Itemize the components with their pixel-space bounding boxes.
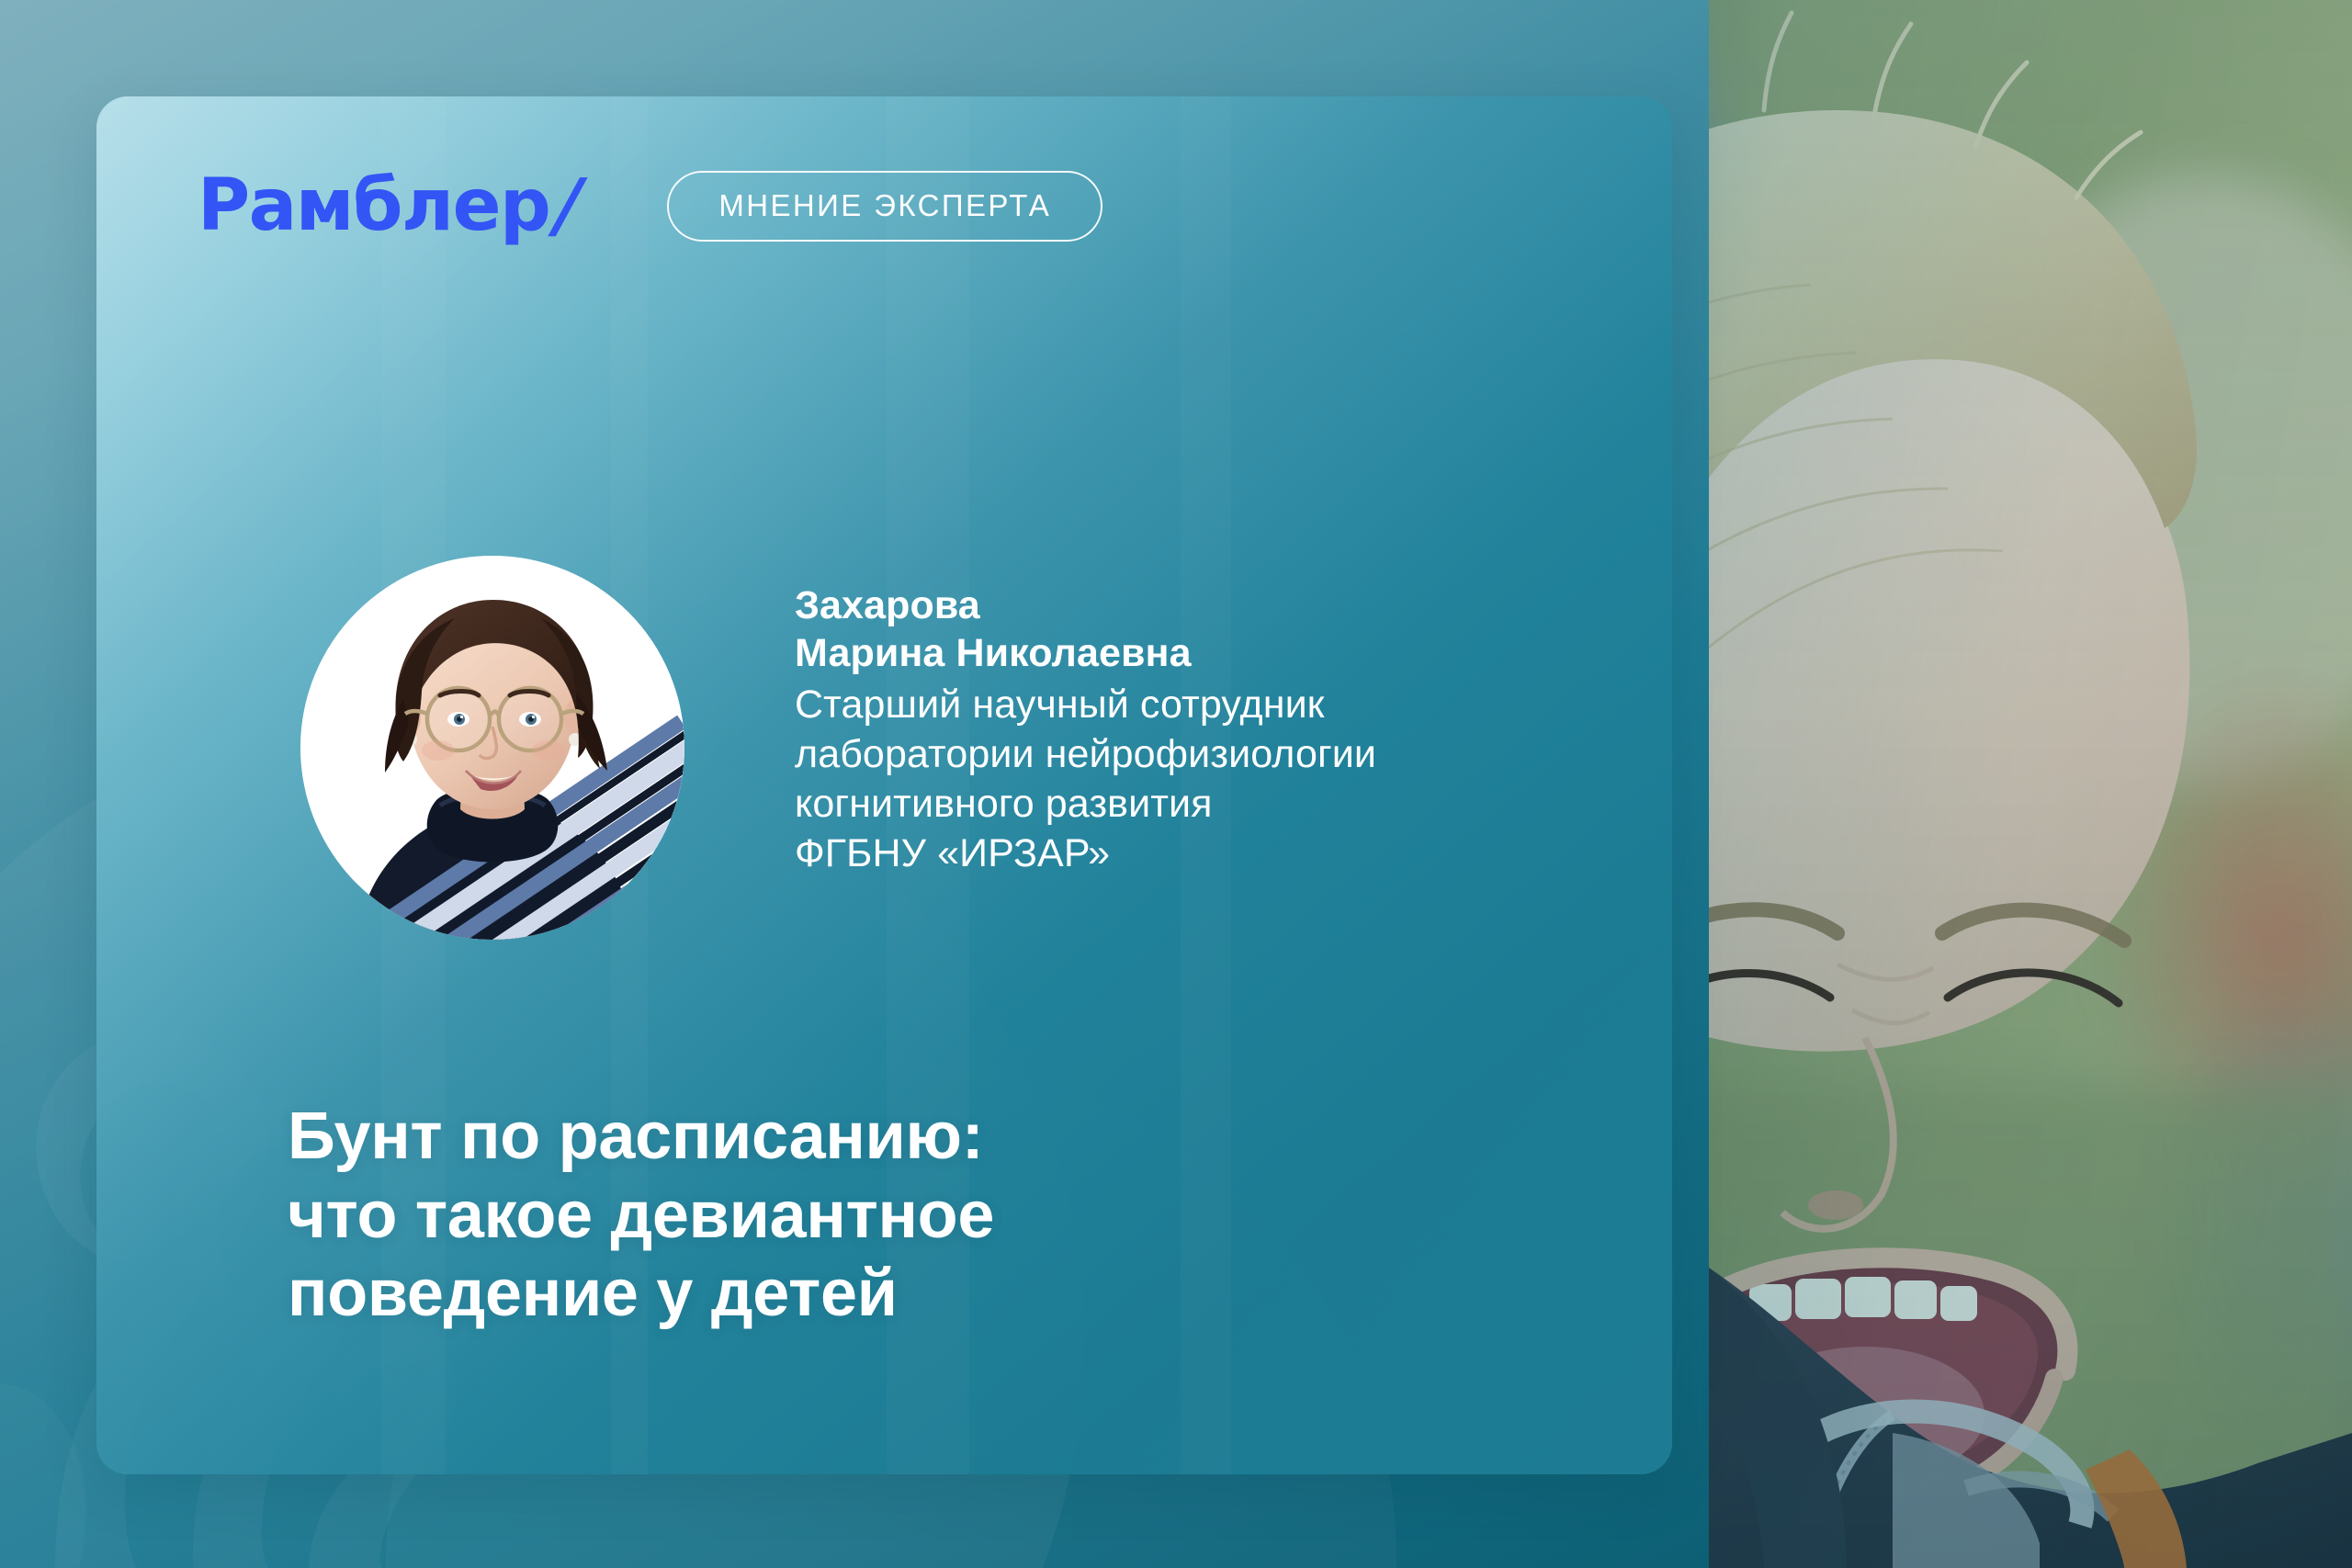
rambler-logo-text: Рамблер xyxy=(198,164,549,247)
card-header: Рамблер/ МНЕНИЕ ЭКСПЕРТА xyxy=(198,170,1102,242)
expert-details: Захарова Марина Николаевна Старший научн… xyxy=(795,556,1376,879)
avatar xyxy=(300,556,684,940)
expert-role: Старший научный сотрудник лаборатории не… xyxy=(795,680,1376,879)
expert-name: Захарова Марина Николаевна xyxy=(795,581,1376,678)
expert-opinion-card: Рамблер/ МНЕНИЕ ЭКСПЕРТА xyxy=(96,96,1672,1474)
rambler-logo[interactable]: Рамблер/ xyxy=(198,170,580,242)
status-badge: МНЕНИЕ ЭКСПЕРТА xyxy=(667,171,1102,242)
article-headline: Бунт по расписанию: что такое девиантное… xyxy=(288,1098,994,1334)
promo-card-canvas: Рамблер/ МНЕНИЕ ЭКСПЕРТА xyxy=(0,0,2352,1568)
expert-block: Захарова Марина Николаевна Старший научн… xyxy=(300,556,1376,940)
rambler-logo-slash: / xyxy=(547,170,588,242)
